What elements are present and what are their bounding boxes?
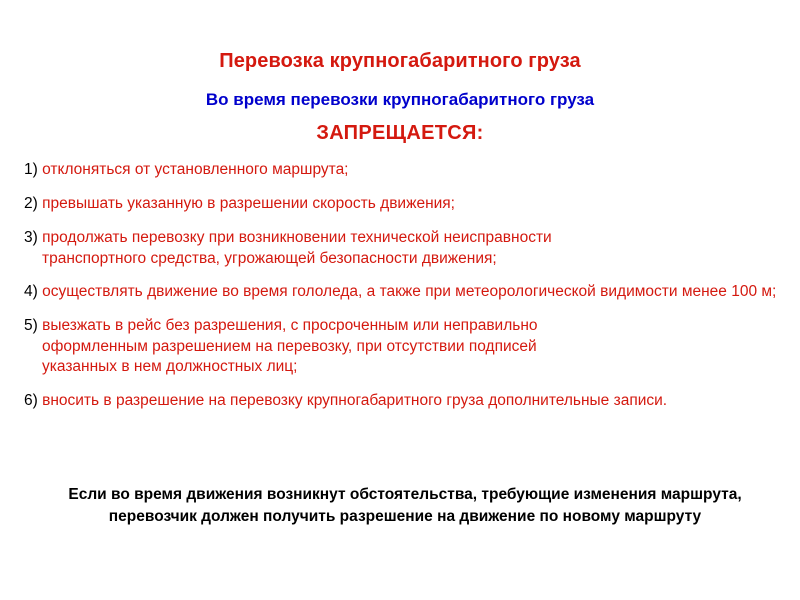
list-item: 4) осуществлять движение во время гололе… [24,282,780,303]
list-item-text-cont2: указанных в нем должностных лиц; [24,357,780,378]
footer-note: Если во время движения возникнут обстоят… [60,484,750,528]
subtitle: Во время перевозки крупногабаритного гру… [0,90,800,110]
prohibitions-list: 1) отклоняться от установленного маршрут… [24,160,780,411]
slide-root: Перевозка крупногабаритного груза Во вре… [0,0,800,600]
list-item: 2) превышать указанную в разрешении скор… [24,194,780,215]
list-item-number: 1) [24,161,38,178]
list-item: 5) выезжать в рейс без разрешения, с про… [24,316,780,378]
list-item-text: выезжать в рейс без разрешения, с просро… [38,317,538,334]
list-item-text-cont: транспортного средства, угрожающей безоп… [24,249,730,270]
list-item: 6) вносить в разрешение на перевозку кру… [24,391,780,412]
list-item-text: отклоняться от установленного маршрута; [38,161,349,178]
list-item-number: 5) [24,317,38,334]
forbidden-heading: ЗАПРЕЩАЕТСЯ: [0,122,800,145]
list-item-text: продолжать перевозку при возникновении т… [38,229,552,246]
list-item-number: 6) [24,392,38,409]
list-item-number: 2) [24,195,38,212]
list-item-text: превышать указанную в разрешении скорост… [38,195,455,212]
list-item: 1) отклоняться от установленного маршрут… [24,160,780,181]
list-item-number: 3) [24,229,38,246]
list-item-text-cont: оформленным разрешением на перевозку, пр… [24,337,780,358]
list-item-text: осуществлять движение во время гололеда,… [38,283,777,300]
page-title: Перевозка крупногабаритного груза [0,50,800,73]
list-item-number: 4) [24,283,38,300]
list-item: 3) продолжать перевозку при возникновени… [24,228,780,269]
list-item-text: вносить в разрешение на перевозку крупно… [38,392,667,409]
